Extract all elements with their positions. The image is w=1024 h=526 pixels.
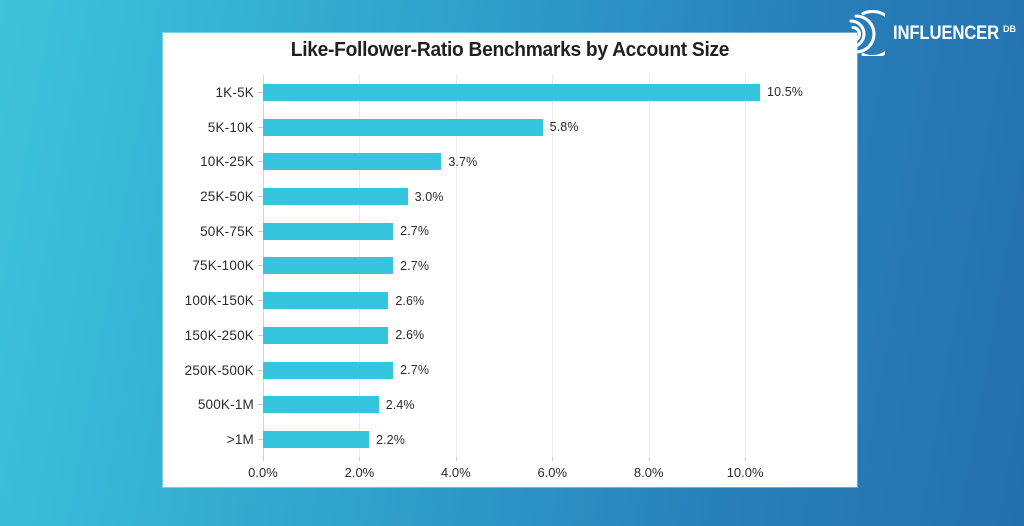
bar-value-label: 3.7% bbox=[448, 155, 477, 169]
bar-value-label: 2.6% bbox=[395, 294, 424, 308]
category-label: 50K-75K bbox=[200, 224, 254, 239]
bar-row: >1M2.2% bbox=[263, 422, 803, 457]
bar-value-label: 2.7% bbox=[400, 224, 429, 238]
bar[interactable] bbox=[263, 396, 379, 413]
y-axis-tick bbox=[258, 265, 263, 266]
bar-row: 5K-10K5.8% bbox=[263, 110, 803, 145]
bar-value-label: 2.7% bbox=[400, 363, 429, 377]
category-label: 1K-5K bbox=[215, 85, 254, 100]
bar[interactable] bbox=[263, 119, 543, 136]
bar-value-label: 3.0% bbox=[415, 190, 444, 204]
bar-row: 500K-1M2.4% bbox=[263, 388, 803, 423]
x-axis-tick-label: 10.0% bbox=[727, 465, 764, 480]
brand-logo: INFLUENCER DB bbox=[839, 8, 1016, 58]
bar[interactable] bbox=[263, 223, 393, 240]
x-axis-tick bbox=[263, 457, 264, 461]
bar-row: 10K-25K3.7% bbox=[263, 144, 803, 179]
x-axis-tick-label: 8.0% bbox=[634, 465, 664, 480]
y-axis-tick bbox=[258, 196, 263, 197]
x-axis-tick-label: 0.0% bbox=[248, 465, 278, 480]
y-axis-tick bbox=[258, 161, 263, 162]
x-axis-tick bbox=[552, 457, 553, 461]
y-axis-tick bbox=[258, 404, 263, 405]
plot-area: 1K-5K10.5%5K-10K5.8%10K-25K3.7%25K-50K3.… bbox=[263, 75, 803, 457]
bar-row: 100K-150K2.6% bbox=[263, 283, 803, 318]
chart-title: Like-Follower-Ratio Benchmarks by Accoun… bbox=[177, 39, 843, 62]
bar-row: 1K-5K10.5% bbox=[263, 75, 803, 110]
y-axis-tick bbox=[258, 439, 263, 440]
bar-value-label: 10.5% bbox=[767, 85, 803, 99]
bar[interactable] bbox=[263, 84, 760, 101]
bar[interactable] bbox=[263, 327, 388, 344]
category-label: 25K-50K bbox=[200, 189, 254, 204]
bar-rows: 1K-5K10.5%5K-10K5.8%10K-25K3.7%25K-50K3.… bbox=[263, 75, 803, 457]
x-axis: 0.0%2.0%4.0%6.0%8.0%10.0% bbox=[263, 457, 803, 487]
y-axis-tick bbox=[258, 92, 263, 93]
x-axis-tick-label: 2.0% bbox=[345, 465, 375, 480]
brand-suffix: DB bbox=[1003, 25, 1016, 34]
bar-row: 25K-50K3.0% bbox=[263, 179, 803, 214]
bar-row: 75K-100K2.7% bbox=[263, 249, 803, 284]
category-label: 10K-25K bbox=[200, 154, 254, 169]
x-axis-tick bbox=[359, 457, 360, 461]
chart-card: Like-Follower-Ratio Benchmarks by Accoun… bbox=[163, 33, 857, 487]
brand-name: INFLUENCER bbox=[893, 24, 999, 43]
bar[interactable] bbox=[263, 188, 408, 205]
y-axis-tick bbox=[258, 127, 263, 128]
category-label: 75K-100K bbox=[192, 258, 254, 273]
bar-row: 50K-75K2.7% bbox=[263, 214, 803, 249]
bar[interactable] bbox=[263, 292, 388, 309]
bar[interactable] bbox=[263, 362, 393, 379]
x-axis-tick-label: 4.0% bbox=[441, 465, 471, 480]
x-axis-tick bbox=[649, 457, 650, 461]
bar-value-label: 5.8% bbox=[550, 120, 579, 134]
bar[interactable] bbox=[263, 257, 393, 274]
y-axis-tick bbox=[258, 370, 263, 371]
bar-value-label: 2.7% bbox=[400, 259, 429, 273]
category-label: 250K-500K bbox=[185, 363, 254, 378]
chart-infographic: INFLUENCER DB Like-Follower-Ratio Benchm… bbox=[0, 0, 1024, 526]
category-label: 5K-10K bbox=[208, 120, 254, 135]
bar-value-label: 2.2% bbox=[376, 433, 405, 447]
y-axis-tick bbox=[258, 335, 263, 336]
bar[interactable] bbox=[263, 153, 441, 170]
bar-row: 150K-250K2.6% bbox=[263, 318, 803, 353]
category-label: 100K-150K bbox=[185, 293, 254, 308]
category-label: >1M bbox=[227, 432, 254, 447]
category-label: 500K-1M bbox=[198, 397, 254, 412]
y-axis-tick bbox=[258, 300, 263, 301]
x-axis-tick-label: 6.0% bbox=[537, 465, 567, 480]
bar-row: 250K-500K2.7% bbox=[263, 353, 803, 388]
category-label: 150K-250K bbox=[185, 328, 254, 343]
brand-wordmark: INFLUENCER DB bbox=[893, 24, 1016, 43]
bar-value-label: 2.4% bbox=[386, 398, 415, 412]
x-axis-tick bbox=[456, 457, 457, 461]
bar[interactable] bbox=[263, 431, 369, 448]
x-axis-tick bbox=[745, 457, 746, 461]
y-axis-tick bbox=[258, 231, 263, 232]
bar-value-label: 2.6% bbox=[395, 328, 424, 342]
